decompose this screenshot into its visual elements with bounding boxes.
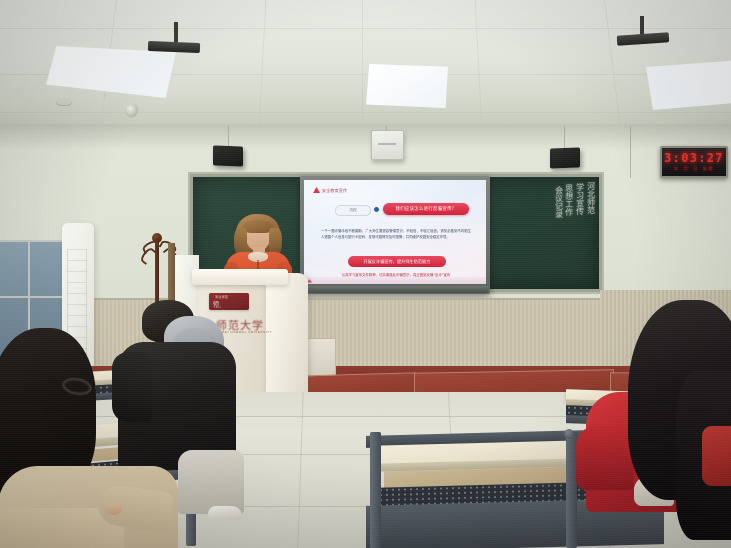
student-tan-coat [0, 328, 168, 548]
student-mid-shoe [208, 506, 242, 520]
slide-bullet-dot-icon [374, 207, 379, 212]
ceiling [0, 0, 731, 128]
student-left-hand [104, 504, 122, 515]
student-mid-leg [178, 450, 244, 514]
speaker-wire-right [564, 126, 565, 150]
clock-date-display: 年 月 日 星期 [674, 166, 714, 172]
slide-headline-banner: 我们应该怎么进行反骗宣传？ [383, 203, 469, 215]
slide-tab-pill: 流程 [335, 205, 371, 216]
podium-top-surface [192, 269, 288, 285]
slide-canvas: 安全教育宣传 流程 我们应该怎么进行反骗宣传？ 一千一题诈骗手段不断翻新，广大师… [304, 180, 486, 284]
smoke-detector-icon [56, 98, 72, 105]
slide-bottom-bar [304, 277, 486, 284]
student-red-top [586, 300, 731, 548]
student-edge-figure [702, 426, 731, 486]
clock-time-display: 3:03:27 [664, 152, 724, 164]
wall-speaker-right [550, 147, 580, 168]
podium-curved-side [266, 273, 308, 405]
wall-speaker-left [213, 145, 243, 166]
ceiling-camera-icon [125, 104, 138, 117]
speaker-wire-left [228, 126, 229, 148]
projection-screen[interactable]: 安全教育宣传 流程 我们应该怎么进行反骗宣传？ 一千一题诈骗手段不断翻新，广大师… [300, 176, 490, 294]
chalk-text-column-1: 河北师范 [586, 182, 595, 214]
slide-body-text: 一千一题诈骗手段不断翻新，广大师生要提高警惕意识，不轻信、不轻汇轻信。请务必做到… [321, 228, 471, 241]
student-right-arm [576, 426, 634, 490]
chalk-text-column-2: 学习宣传 [575, 183, 584, 215]
slide-page-indicator: · · · [364, 279, 369, 283]
wall-top-shadow [0, 124, 731, 150]
clock-wire [630, 126, 631, 178]
slide-logo-text: 安全教育宣传 [322, 188, 347, 194]
ceiling-light-panel-center [366, 64, 448, 108]
chalk-text-column-4: 会议记录 [554, 186, 563, 218]
chalk-text-column-3: 思想工作 [564, 184, 573, 216]
screen-bezel-bottom [302, 286, 488, 293]
slide-second-banner: 开展反诈骗宣传，提升师生防范能力 [348, 256, 446, 267]
slide-logo: 安全教育宣传 [313, 187, 347, 194]
classroom-scene: 3:03:27 年 月 日 星期 河北师范 学习宣传 思想工作 会议记录 安全教… [0, 0, 731, 548]
control-unit-label [378, 143, 396, 145]
student-edge-sleeve [702, 426, 731, 486]
wall-control-unit[interactable] [371, 130, 404, 160]
slide-logo-mark-icon [313, 187, 320, 194]
led-wall-clock: 3:03:27 年 月 日 星期 [660, 146, 728, 178]
ceiling-light-panel-right [646, 60, 731, 110]
